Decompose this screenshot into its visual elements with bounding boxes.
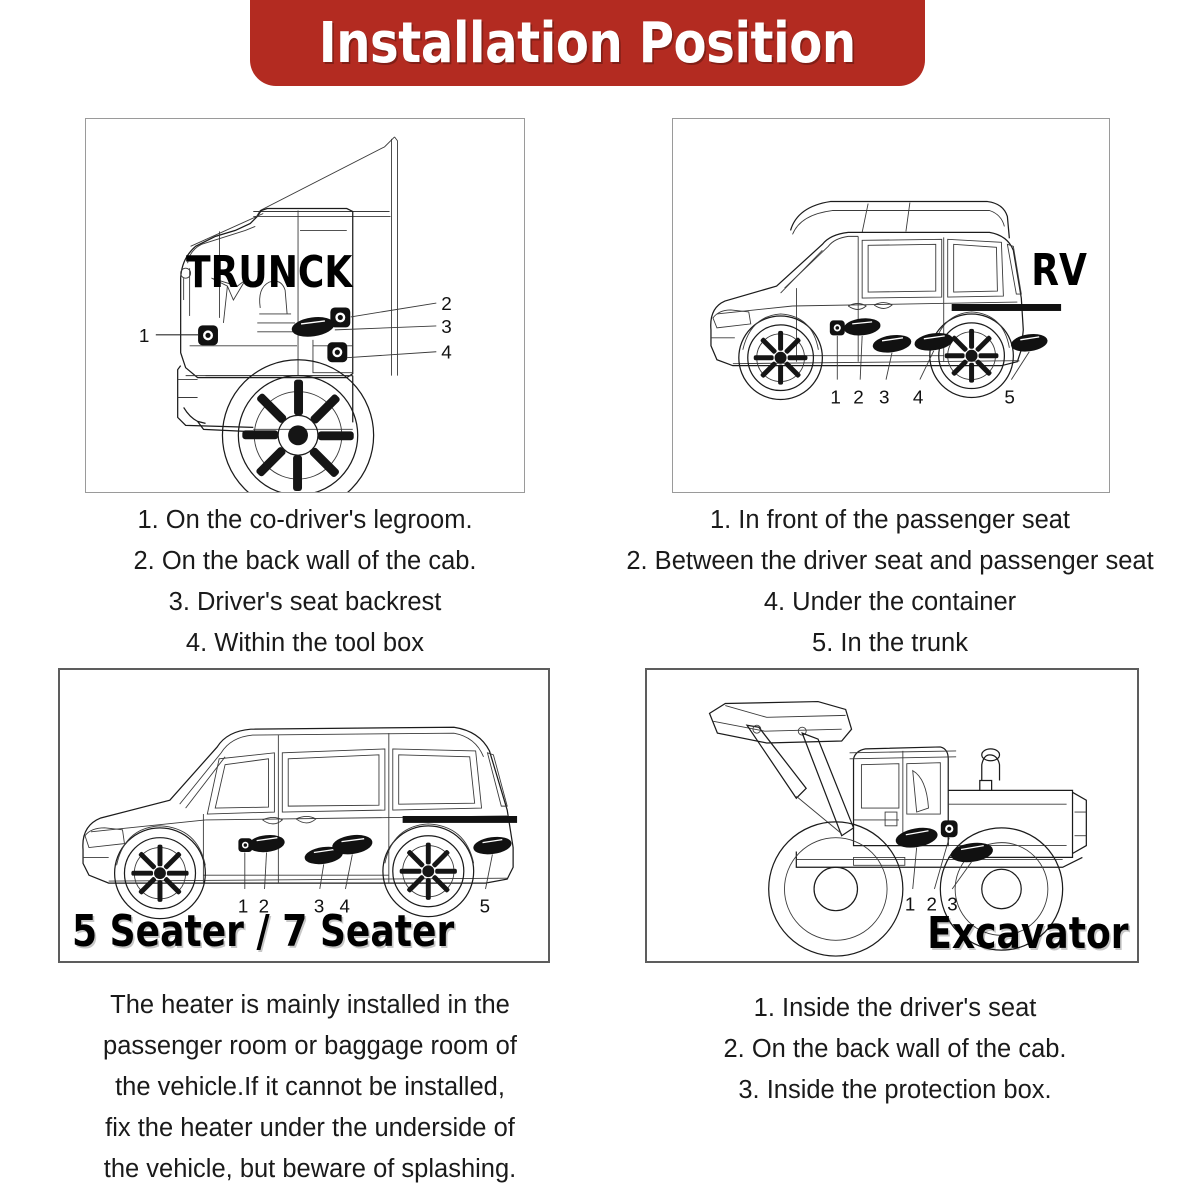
heater-device-5 [473, 835, 512, 856]
heater-device-2 [844, 317, 881, 337]
front-wheel [115, 828, 206, 919]
caption-line: 2. Between the driver seat and passenger… [590, 541, 1190, 582]
caption-line: 5. In the trunk [590, 623, 1190, 664]
rv-drawing: 1 2 3 4 5 [673, 119, 1109, 492]
seater-illustration-frame: 1 2 3 4 5 5 Seater / 7 Seater [58, 668, 550, 963]
panel-label-truck: TRUNCK [186, 247, 352, 298]
callout-number: 1 [905, 894, 915, 915]
caption-line: 1. In front of the passenger seat [590, 500, 1190, 541]
caption-line: 2. On the back wall of the cab. [650, 1029, 1140, 1070]
callout-number: 1 [830, 387, 841, 408]
title-banner: Installation Position [250, 0, 925, 86]
heater-device-3 [872, 333, 912, 354]
caption-line: 4. Under the container [590, 582, 1190, 623]
heater-device-1 [199, 326, 218, 345]
caption-line: The heater is mainly installed in the [50, 985, 570, 1026]
callout-number: 4 [913, 387, 924, 408]
panel-label-excavator: Excavator [928, 908, 1129, 959]
callout-number: 3 [441, 317, 452, 338]
caption-line: the vehicle.If it cannot be installed, [50, 1067, 570, 1108]
caption-line: 4. Within the tool box [70, 623, 540, 664]
heater-device-4 [328, 343, 347, 362]
excavator-caption: 1. Inside the driver's seat 2. On the ba… [650, 988, 1140, 1111]
caption-line: 3. Inside the protection box. [650, 1070, 1140, 1111]
truck-drawing: 1 2 3 4 [86, 119, 524, 492]
heater-device-4 [332, 833, 374, 856]
caption-line: 3. Driver's seat backrest [70, 582, 540, 623]
caption-line: 1. Inside the driver's seat [650, 988, 1140, 1029]
caption-line: the vehicle, but beware of splashing. [50, 1149, 570, 1190]
seater-caption: The heater is mainly installed in the pa… [50, 985, 570, 1190]
callout-number: 2 [853, 387, 864, 408]
rear-wheel [383, 826, 474, 917]
truck-illustration-frame: 1 2 3 4 TRUNCK [85, 118, 525, 493]
caption-line: fix the heater under the underside of [50, 1108, 570, 1149]
page-title: Installation Position [319, 11, 856, 76]
panel-label-seater: 5 Seater / 7 Seater [72, 906, 454, 957]
callout-number: 4 [441, 343, 452, 364]
heater-device-4 [914, 331, 954, 352]
front-wheel [769, 822, 903, 956]
heater-device-2 [248, 834, 285, 853]
infographic-page: Installation Position [0, 0, 1200, 1200]
callout-number: 3 [879, 387, 890, 408]
panel-label-rv: RV [1031, 245, 1087, 296]
rv-illustration-frame: 1 2 3 4 5 RV [672, 118, 1110, 493]
heater-device-2 [941, 821, 957, 837]
callout-number: 5 [1004, 387, 1015, 408]
heater-device-3 [950, 841, 993, 864]
caption-line: 1. On the co-driver's legroom. [70, 500, 540, 541]
excavator-illustration-frame: 1 2 3 Excavator [645, 668, 1139, 963]
caption-line: passenger room or baggage room of [50, 1026, 570, 1067]
callout-number: 2 [441, 294, 452, 315]
heater-device-5 [1010, 332, 1048, 353]
truck-caption: 1. On the co-driver's legroom. 2. On the… [70, 500, 540, 664]
caption-line: 2. On the back wall of the cab. [70, 541, 540, 582]
callout-number: 1 [139, 326, 150, 347]
heater-device-1 [830, 321, 844, 335]
callout-number: 5 [480, 896, 490, 917]
heater-device-1 [895, 825, 939, 850]
rv-caption: 1. In front of the passenger seat 2. Bet… [590, 500, 1190, 664]
